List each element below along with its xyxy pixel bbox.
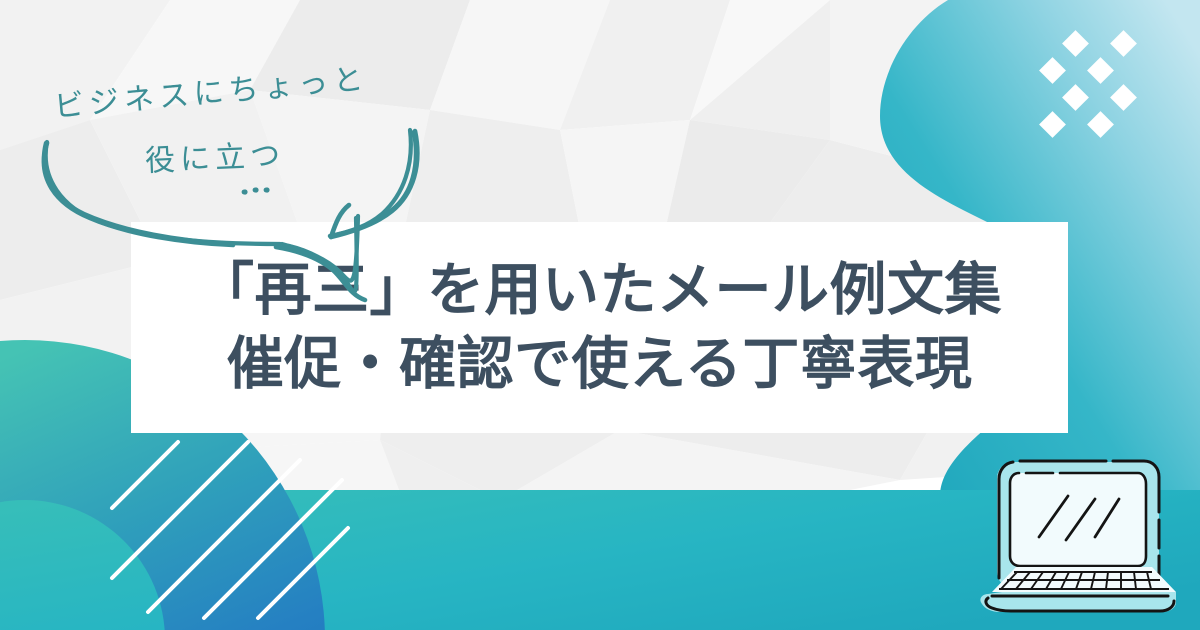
eyecatch-canvas: ビジネスにちょっと 役に立つ 「再三」を用いたメール例文集 催促・確認で使える丁… (0, 0, 1200, 630)
laptop-screen (1010, 473, 1146, 566)
laptop-illustration (0, 0, 1200, 630)
